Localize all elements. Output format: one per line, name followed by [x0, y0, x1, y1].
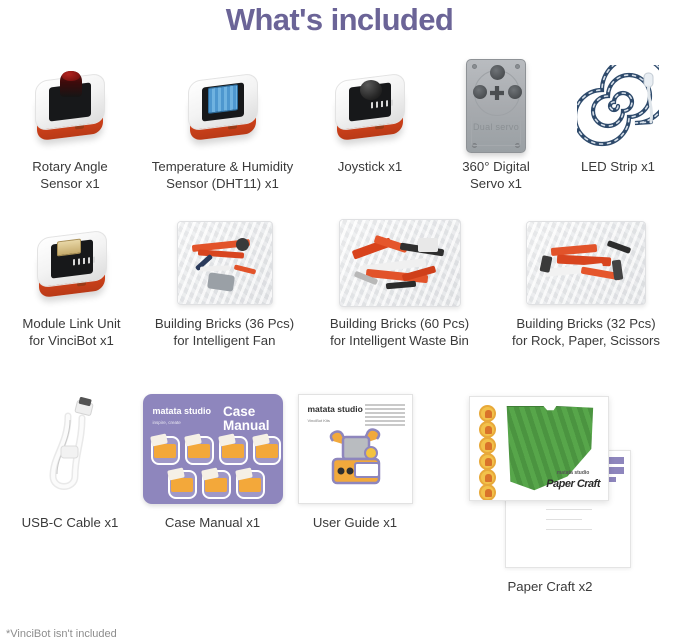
- product-row-1: Rotary Angle Sensor x1 Temperature & Hum…: [0, 58, 679, 192]
- servo-hole-icon: [473, 85, 487, 99]
- product-usb-c-cable[interactable]: USB-C Cable x1: [0, 388, 140, 531]
- screw-icon: [472, 64, 477, 69]
- product-caption: Temperature & Humidity Sensor (DHT11) x1: [152, 158, 293, 192]
- dht11-sensor-icon: [208, 84, 238, 114]
- usb-cable-icon: [35, 394, 105, 504]
- bag-contents: [340, 220, 460, 306]
- product-caption: Paper Craft x2: [507, 578, 592, 595]
- paper-craft-image: matata studio Paper Craft: [469, 388, 631, 576]
- brick-bag-60-image: [339, 215, 461, 311]
- page-title: What's included: [0, 2, 679, 38]
- project-thumb-icon: [256, 444, 278, 458]
- brick-bag: [177, 221, 273, 305]
- sensor-cube: [331, 69, 409, 143]
- product-caption: LED Strip x1: [581, 158, 655, 175]
- product-row-3: USB-C Cable x1 matata studio inspire, cr…: [0, 388, 679, 595]
- craft-brand-name: matata studio: [546, 470, 600, 476]
- product-module-link-unit[interactable]: Module Link Unit for VinciBot x1: [0, 215, 143, 349]
- user-guide-image: matata studio VinciBot Kits: [298, 388, 413, 510]
- guide-brand-label: matata studio VinciBot Kits: [308, 405, 363, 425]
- manual-brand-tagline: inspire, create: [153, 418, 212, 428]
- temperature-humidity-sensor-image: [184, 58, 262, 154]
- manual-title: Case Manual: [223, 405, 270, 433]
- manual-project-tile: [185, 436, 214, 465]
- sensor-cube: [31, 69, 109, 143]
- product-case-manual[interactable]: matata studio inspire, create Case Manua…: [140, 388, 285, 531]
- product-row-2: Module Link Unit for VinciBot x1: [0, 215, 679, 349]
- product-caption: Rotary Angle Sensor x1: [32, 158, 108, 192]
- bag-contents: [527, 222, 645, 304]
- product-led-strip[interactable]: LED Strip x1: [557, 58, 679, 192]
- user-guide-cover: matata studio VinciBot Kits: [298, 394, 413, 504]
- servo-hole-icon: [508, 85, 522, 99]
- vincibot-illustration: [325, 423, 387, 489]
- product-bricks-36[interactable]: Building Bricks (36 Pcs) for Intelligent…: [143, 215, 306, 349]
- link-connector-icon: [57, 239, 81, 257]
- product-caption: Building Bricks (60 Pcs) for Intelligent…: [330, 315, 469, 349]
- product-bricks-32[interactable]: Building Bricks (32 Pcs) for Rock, Paper…: [493, 215, 679, 349]
- product-caption: USB-C Cable x1: [22, 514, 119, 531]
- joystick-image: [331, 58, 409, 154]
- hand-token-icon: [479, 484, 496, 501]
- manual-brand-name: matata studio: [153, 406, 212, 416]
- led-strip-coil-icon: [577, 65, 659, 147]
- screw-icon: [515, 64, 520, 69]
- footnote: *VinciBot isn't included: [6, 628, 117, 640]
- servo-hole-icon: [490, 65, 505, 80]
- product-user-guide[interactable]: matata studio VinciBot Kits: [285, 388, 425, 531]
- brick-bag-36-image: [177, 215, 273, 311]
- project-thumb-icon: [154, 444, 176, 458]
- manual-project-tile: [168, 470, 197, 499]
- product-joystick[interactable]: Joystick x1: [305, 58, 435, 192]
- whats-included-page: What's included Rotary Angle Sensor x1: [0, 0, 679, 643]
- product-bricks-60[interactable]: Building Bricks (60 Pcs) for Intelligent…: [306, 215, 493, 349]
- product-caption: Joystick x1: [338, 158, 403, 175]
- brick-bag: [526, 221, 646, 305]
- servo-body: Dual servo: [466, 59, 526, 153]
- hand-token-icon: [479, 405, 496, 422]
- hand-token-icon: [479, 437, 496, 454]
- guide-brand-name: matata studio: [308, 404, 363, 414]
- paper-craft-sheets: matata studio Paper Craft: [469, 396, 631, 568]
- manual-project-tile: [202, 470, 231, 499]
- product-temperature-humidity-sensor[interactable]: Temperature & Humidity Sensor (DHT11) x1: [140, 58, 305, 192]
- paper-craft-branding: matata studio Paper Craft: [546, 470, 600, 490]
- paper-craft-logo: Paper Craft: [546, 478, 600, 490]
- manual-project-tile: [253, 436, 281, 465]
- case-manual-image: matata studio inspire, create Case Manua…: [143, 388, 283, 510]
- hand-token-icon: [479, 421, 496, 438]
- joystick-knob-icon: [360, 80, 382, 100]
- product-caption: Module Link Unit for VinciBot x1: [22, 315, 120, 349]
- bag-contents: [178, 222, 272, 304]
- case-manual-cover: matata studio inspire, create Case Manua…: [143, 394, 283, 504]
- product-caption: Building Bricks (36 Pcs) for Intelligent…: [155, 315, 294, 349]
- sensor-cube: [33, 226, 111, 300]
- sensor-cube: [184, 69, 262, 143]
- manual-project-tile: [219, 436, 248, 465]
- project-thumb-icon: [188, 444, 210, 458]
- rotary-knob-icon: [60, 71, 82, 97]
- paper-craft-sheet-front: matata studio Paper Craft: [469, 396, 609, 501]
- led-strip-image: [577, 58, 659, 154]
- manual-brand-label: matata studio inspire, create: [153, 406, 212, 428]
- product-digital-servo[interactable]: Dual servo 360° Digital Servo x1: [435, 58, 557, 192]
- servo-brand-label: Dual servo: [467, 122, 525, 132]
- product-caption: 360° Digital Servo x1: [462, 158, 530, 192]
- module-link-unit-image: [33, 215, 111, 311]
- brick-bag: [339, 219, 461, 307]
- manual-project-tile: [236, 470, 265, 499]
- hand-token-icon: [479, 453, 496, 470]
- digital-servo-image: Dual servo: [466, 58, 526, 154]
- project-thumb-icon: [239, 478, 261, 492]
- product-paper-craft[interactable]: matata studio Paper Craft Paper Craft x2: [425, 388, 675, 595]
- rotary-angle-sensor-image: [31, 58, 109, 154]
- product-rotary-angle-sensor[interactable]: Rotary Angle Sensor x1: [0, 58, 140, 192]
- product-caption: User Guide x1: [313, 514, 397, 531]
- usb-c-cable-image: [35, 388, 105, 510]
- brick-bag-32-image: [526, 215, 646, 311]
- product-caption: Building Bricks (32 Pcs) for Rock, Paper…: [512, 315, 660, 349]
- project-thumb-icon: [205, 478, 227, 492]
- product-caption: Case Manual x1: [165, 514, 260, 531]
- project-thumb-icon: [171, 478, 193, 492]
- manual-project-tile: [151, 436, 180, 465]
- project-thumb-icon: [222, 444, 244, 458]
